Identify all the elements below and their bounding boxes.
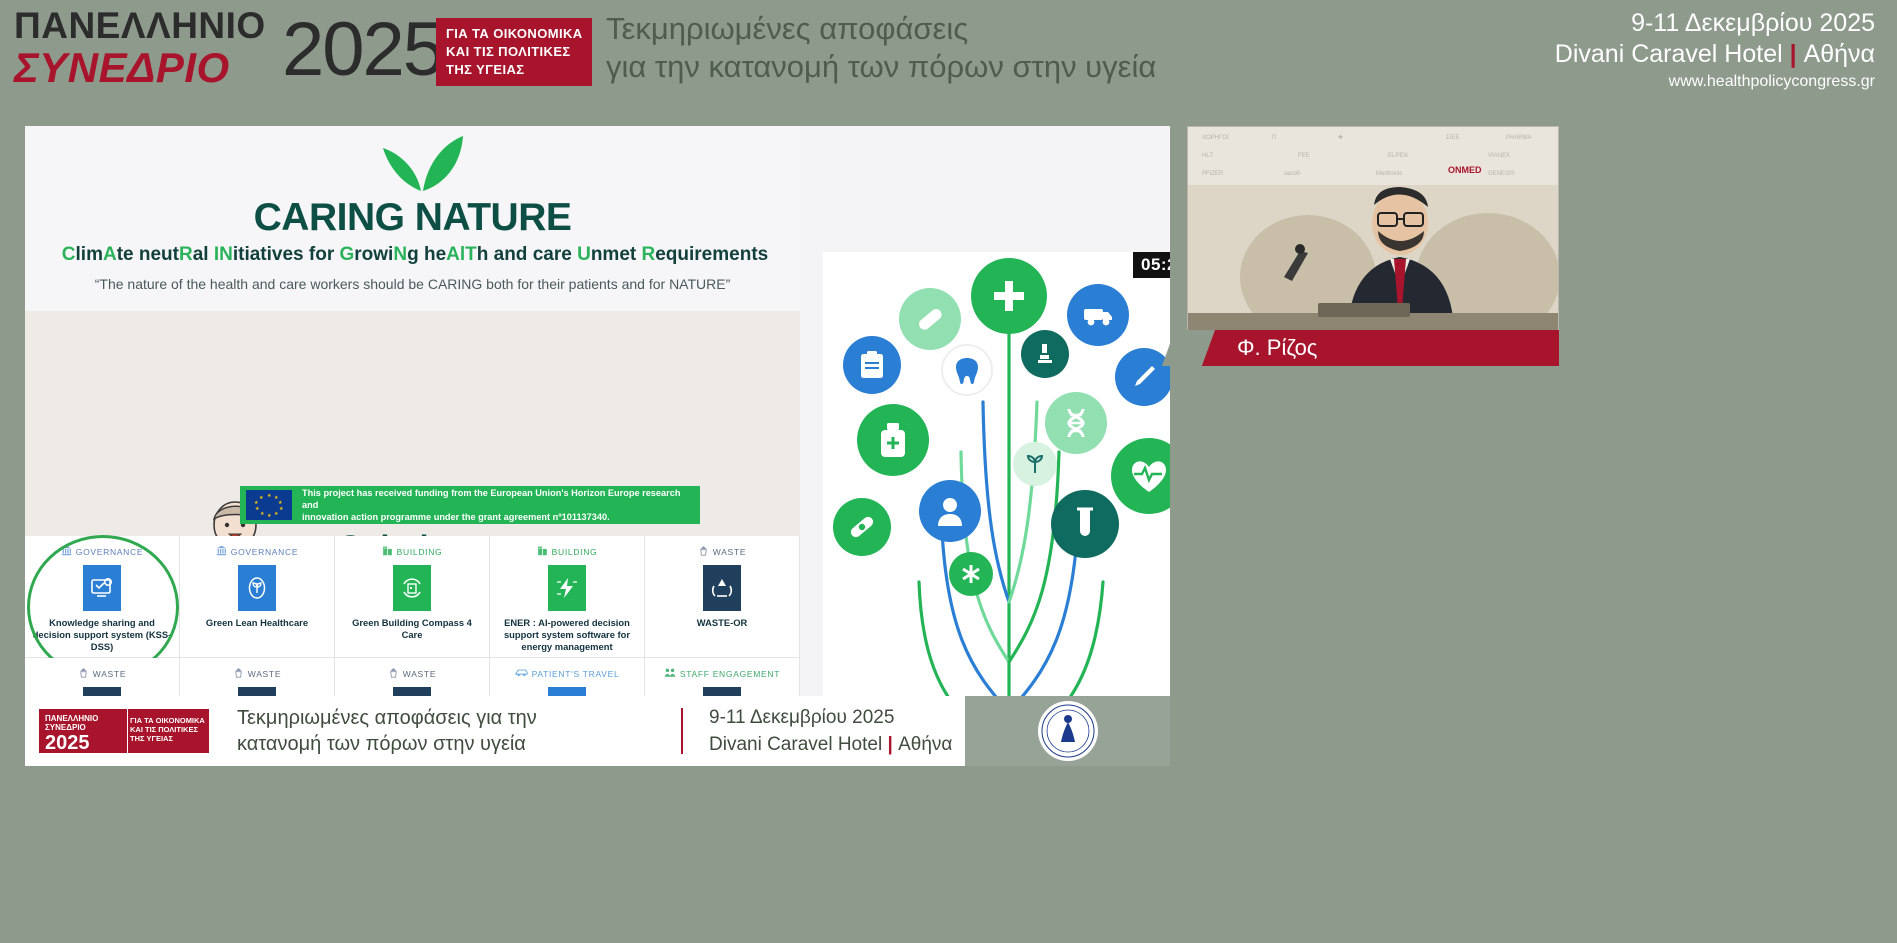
congress-logo-text: ΠΑΝΕΛΛΗΝΙΟ ΣΥΝΕΔΡΙΟ [14, 6, 314, 90]
badge-line1: ΓΙΑ ΤΑ ΟΙΚΟΝΟΜΙΚΑ [446, 25, 584, 43]
slide-footer-badge-line3: ΤΗΣ ΥΓΕΙΑΣ [130, 734, 205, 743]
solution-card[interactable]: GOVERNANCEGreen Lean Healthcare [180, 536, 335, 658]
staff-icon [664, 665, 676, 683]
slide-footer-info: Τεκμηριωμένες αποφάσεις για την κατανομή… [225, 696, 965, 766]
bubble-clipboard-icon [843, 336, 901, 394]
solution-card-category: PATIENT'S TRAVEL [496, 666, 638, 682]
energy-bolt-icon [548, 565, 586, 611]
slide-footer-venue: Divani Caravel Hotel [709, 734, 882, 755]
speaker-video-feed[interactable]: ΧΟΡΗΓΟΙΠ✚ Σ/ΕΕPHARMA HL7FEEELPENVIANEX P… [1187, 126, 1559, 334]
header-title-line1: Τεκμηριωμένες αποφάσεις [606, 10, 1246, 48]
svg-text:PHARMA: PHARMA [1506, 135, 1532, 141]
building-recycle-icon [393, 565, 431, 611]
solution-card-category: WASTE [341, 666, 483, 682]
solution-card-category: WASTE [651, 544, 793, 560]
monitor-gear-icon [83, 565, 121, 611]
slide-footer-venue-separator: | [887, 734, 892, 755]
project-title: CARING NATURE [25, 196, 800, 240]
bubble-cross-icon [971, 258, 1047, 334]
solution-card-category-label: WASTE [248, 669, 281, 679]
solution-card-category-label: PATIENT'S TRAVEL [532, 669, 620, 679]
solution-card-title: ENER : AI-powered decision support syste… [496, 617, 638, 653]
slide-footer-logo-line1: ΠΑΝΕΛΛΗΝΙΟ [45, 714, 127, 723]
slide-footer-divider [681, 708, 683, 754]
bubble-test-tube-icon [1051, 490, 1119, 558]
speaker-video-frame: ΧΟΡΗΓΟΙΠ✚ Σ/ΕΕPHARMA HL7FEEELPENVIANEX P… [1188, 127, 1559, 334]
congress-logo-badge: ΓΙΑ ΤΑ ΟΙΚΟΝΟΜΙΚΑ ΚΑΙ ΤΙΣ ΠΟΛΙΤΙΚΕΣ ΤΗΣ … [436, 18, 592, 86]
svg-text:Π: Π [1272, 135, 1276, 141]
leaf-circle-icon [238, 565, 276, 611]
bubble-scalpel-icon [1115, 348, 1170, 406]
slide-footer-badge-line1: ΓΙΑ ΤΑ ΟΙΚΟΝΟΜΙΚΑ [130, 716, 205, 725]
university-seal-icon [1038, 701, 1098, 761]
bubble-microscope-icon [1021, 330, 1069, 378]
slide-footer-event: 9-11 Δεκεμβρίου 2025 Divani Caravel Hote… [709, 704, 952, 758]
header-event-info: 9-11 Δεκεμβρίου 2025 Divani Caravel Hote… [1555, 8, 1875, 94]
solution-card-title: WASTE-OR [651, 617, 793, 629]
solution-card[interactable]: WASTEWASTE-OR [645, 536, 800, 658]
slide-footer-badge-line2: ΚΑΙ ΤΙΣ ΠΟΛΙΤΙΚΕΣ [130, 725, 205, 734]
svg-text:sanofi: sanofi [1284, 171, 1300, 177]
slide-solutions-section: ★ ★ ★ ★ ★ ★ ★ ★ ★ ★ This project has rec… [25, 311, 800, 536]
solution-card[interactable]: GOVERNANCEKnowledge sharing and decision… [25, 536, 180, 658]
page-header: ΠΑΝΕΛΛΗΝΙΟ ΣΥΝΕΔΡΙΟ 2025 ΓΙΑ ΤΑ ΟΙΚΟΝΟΜΙ… [0, 0, 1897, 116]
congress-logo: ΠΑΝΕΛΛΗΝΙΟ ΣΥΝΕΔΡΙΟ 2025 ΓΙΑ ΤΑ ΟΙΚΟΝΟΜΙ… [14, 6, 574, 102]
governance-icon [216, 543, 227, 561]
svg-text:FEE: FEE [1298, 153, 1310, 159]
solution-card-title: Green Lean Healthcare [186, 617, 328, 629]
bubble-nurse-icon [919, 480, 981, 542]
congress-logo-line2: ΣΥΝΕΔΡΙΟ [14, 46, 314, 90]
waste-icon [233, 665, 244, 683]
slide-footer-date: 9-11 Δεκεμβρίου 2025 [709, 704, 952, 731]
header-title: Τεκμηριωμένες αποφάσεις για την κατανομή… [606, 10, 1246, 86]
waste-icon [388, 665, 399, 683]
header-title-line2: για την κατανομή των πόρων στην υγεία [606, 48, 1246, 86]
slide-footer-seal-area [965, 696, 1170, 766]
slide-footer-bar: ΠΑΝΕΛΛΗΝΙΟ ΣΥΝΕΔΡΙΟ 2025 ΓΙΑ ΤΑ ΟΙΚΟΝΟΜΙ… [25, 696, 1170, 766]
bubble-bandage-icon [833, 498, 891, 556]
governance-icon [61, 543, 72, 561]
slide-footer-logo-line2: ΣΥΝΕΔΡΙΟ [45, 723, 127, 732]
header-venue-separator: | [1790, 40, 1797, 68]
solution-card[interactable]: BUILDINGENER : AI-powered decision suppo… [490, 536, 645, 658]
svg-text:ONMED: ONMED [1448, 165, 1482, 175]
header-venue-name: Divani Caravel Hotel [1555, 40, 1783, 68]
project-quote: “The nature of the health and care worke… [25, 276, 800, 292]
badge-line2: ΚΑΙ ΤΙΣ ΠΟΛΙΤΙΚΕΣ [446, 43, 584, 61]
header-venue: Divani Caravel Hotel | Αθήνα [1555, 38, 1875, 70]
solution-card-category-label: BUILDING [552, 547, 598, 557]
screen: ΠΑΝΕΛΛΗΝΙΟ ΣΥΝΕΔΡΙΟ 2025 ΓΙΑ ΤΑ ΟΙΚΟΝΟΜΙ… [0, 0, 1897, 943]
slide-footer-logo-left: ΠΑΝΕΛΛΗΝΙΟ ΣΥΝΕΔΡΙΟ 2025 [39, 709, 127, 753]
header-city: Αθήνα [1804, 40, 1875, 68]
solution-card-title: Green Building Compass 4 Care [341, 617, 483, 641]
leaf-logo-icon [377, 134, 467, 192]
solution-card-category-label: WASTE [713, 547, 746, 557]
slide-title-section: CARING NATURE ClimAte neutRal INitiative… [25, 126, 800, 311]
slide-footer-logo-year: 2025 [45, 732, 127, 754]
car-icon [515, 665, 528, 683]
bubble-pill-icon [899, 288, 961, 350]
eu-flag-icon: ★ ★ ★ ★ ★ ★ ★ ★ ★ ★ [246, 490, 292, 520]
svg-text:VIANEX: VIANEX [1488, 153, 1510, 159]
eu-funding-text: This project has received funding from t… [302, 487, 694, 523]
svg-text:ΧΟΡΗΓΟΙ: ΧΟΡΗΓΟΙ [1202, 135, 1229, 141]
building-icon [382, 543, 393, 561]
svg-text:ELPEN: ELPEN [1388, 153, 1408, 159]
presentation-slide[interactable]: CARING NATURE ClimAte neutRal INitiative… [25, 126, 1170, 766]
solution-card-category-label: GOVERNANCE [231, 547, 298, 557]
svg-text:HL7: HL7 [1202, 153, 1214, 159]
svg-text:Medtronic: Medtronic [1376, 171, 1402, 177]
bubble-medicine-bottle-icon [857, 404, 929, 476]
svg-text:Σ/ΕΕ: Σ/ΕΕ [1446, 135, 1459, 141]
eu-funding-line2: innovation action programme under the gr… [302, 511, 694, 523]
solution-card-title: Knowledge sharing and decision support s… [31, 617, 173, 653]
project-acronym-expansion: ClimAte neutRal INitiatives for GrowiNg … [25, 244, 815, 266]
solution-card-category-label: STAFF ENGAGEMENT [680, 669, 780, 679]
header-date: 9-11 Δεκεμβρίου 2025 [1555, 8, 1875, 38]
solution-card-category: BUILDING [496, 544, 638, 560]
badge-line3: ΤΗΣ ΥΓΕΙΑΣ [446, 61, 584, 79]
congress-logo-line1: ΠΑΝΕΛΛΗΝΙΟ [14, 6, 314, 46]
bubble-ambulance-icon [1067, 284, 1129, 346]
solution-card-category: WASTE [186, 666, 328, 682]
slide-footer-title: Τεκμηριωμένες αποφάσεις για την κατανομή… [225, 705, 655, 757]
svg-text:✚: ✚ [1338, 134, 1343, 141]
slide-footer-title-line1: Τεκμηριωμένες αποφάσεις για την [237, 705, 655, 731]
solution-card-category: BUILDING [341, 544, 483, 560]
speaker-nameplate: Φ. Ρίζος [1175, 330, 1559, 366]
waste-icon [78, 665, 89, 683]
congress-logo-year: 2025 [282, 2, 443, 98]
solution-card-category: GOVERNANCE [186, 544, 328, 560]
presentation-timer: 05:25 [1133, 252, 1170, 278]
svg-text:PFIZER: PFIZER [1202, 171, 1224, 177]
building-icon [537, 543, 548, 561]
svg-text:GENESIS: GENESIS [1488, 171, 1515, 177]
solution-card-category-label: BUILDING [397, 547, 443, 557]
bubble-dna-icon [1045, 392, 1107, 454]
header-url[interactable]: www.healthpolicycongress.gr [1555, 70, 1875, 94]
solution-card[interactable]: BUILDINGGreen Building Compass 4 Care [335, 536, 490, 658]
waste-recycle-icon [703, 565, 741, 611]
slide-footer-logo: ΠΑΝΕΛΛΗΝΙΟ ΣΥΝΕΔΡΙΟ 2025 ΓΙΑ ΤΑ ΟΙΚΟΝΟΜΙ… [25, 696, 225, 766]
eu-funding-banner: ★ ★ ★ ★ ★ ★ ★ ★ ★ ★ This project has rec… [240, 486, 700, 524]
bubble-tooth-icon [941, 344, 993, 396]
bubble-asterisk-icon [949, 552, 993, 596]
slide-footer-venue-row: Divani Caravel Hotel | Αθήνα [709, 731, 952, 758]
slide-footer-logo-box: ΠΑΝΕΛΛΗΝΙΟ ΣΥΝΕΔΡΙΟ 2025 ΓΙΑ ΤΑ ΟΙΚΟΝΟΜΙ… [39, 709, 209, 753]
solution-card-category-label: GOVERNANCE [76, 547, 143, 557]
eu-funding-line1: This project has received funding from t… [302, 487, 694, 511]
slide-footer-city: Αθήνα [898, 734, 952, 755]
solution-card-category: GOVERNANCE [31, 544, 173, 560]
solution-card-category-label: WASTE [403, 669, 436, 679]
bubble-plant-icon [1013, 442, 1057, 486]
solution-card-category: STAFF ENGAGEMENT [651, 666, 793, 682]
slide-footer-logo-right: ΓΙΑ ΤΑ ΟΙΚΟΝΟΜΙΚΑ ΚΑΙ ΤΙΣ ΠΟΛΙΤΙΚΕΣ ΤΗΣ … [127, 709, 209, 753]
slide-footer-title-line2: κατανομή των πόρων στην υγεία [237, 731, 655, 757]
tree-infographic: 05:25 [823, 252, 1170, 766]
solution-card-category: WASTE [31, 666, 173, 682]
solution-card-category-label: WASTE [93, 669, 126, 679]
waste-icon [698, 543, 709, 561]
